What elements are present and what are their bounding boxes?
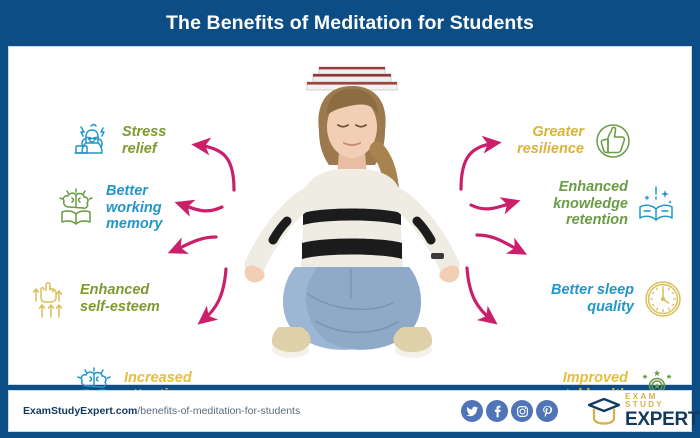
raised-fists-icon — [29, 277, 73, 321]
shoe-right — [393, 327, 432, 358]
wristwatch — [431, 253, 444, 259]
wall-clock-icon — [641, 277, 685, 321]
social-links — [461, 400, 558, 422]
arrow-to-self-esteem — [173, 237, 216, 251]
footer-url-path: /benefits-of-meditation-for-students — [137, 405, 300, 417]
logo-top-text: EXAM STUDY — [625, 393, 699, 409]
pinterest-icon[interactable] — [536, 400, 558, 422]
benefit-stress-relief[interactable]: Stress relief — [71, 119, 166, 163]
graduation-cap-icon — [587, 396, 621, 426]
content-panel: Stress relief Better working memory — [8, 46, 692, 385]
arrow-to-better-sleep — [477, 235, 522, 252]
arrow-to-knowledge-retention — [471, 202, 515, 209]
shoe-left — [272, 327, 311, 358]
header-bar: The Benefits of Meditation for Students — [0, 0, 700, 46]
benefit-greater-resilience[interactable]: Greater resilience — [517, 119, 635, 163]
benefit-better-working-memory[interactable]: Better working memory — [55, 183, 162, 233]
footer-url-domain: ExamStudyExpert.com — [23, 405, 137, 417]
brain-book-icon — [55, 186, 99, 230]
benefit-label: Stress relief — [122, 124, 166, 157]
benefit-label: Greater resilience — [517, 124, 584, 157]
twitter-icon[interactable] — [461, 400, 483, 422]
page-title: The Benefits of Meditation for Students — [166, 12, 534, 35]
brand-logo[interactable]: EXAM STUDY EXPERT — [587, 393, 699, 429]
instagram-icon[interactable] — [511, 400, 533, 422]
benefit-label: Enhanced knowledge retention — [553, 179, 628, 229]
logo-bottom-text: EXPERT — [625, 410, 699, 429]
stressed-person-laptop-icon — [71, 119, 115, 163]
benefit-label: Better working memory — [106, 183, 162, 233]
benefit-enhanced-self-esteem[interactable]: Enhanced self-esteem — [29, 277, 160, 321]
footer-bar: ExamStudyExpert.com/benefits-of-meditati… — [8, 390, 692, 432]
meditating-student-photo — [227, 53, 477, 386]
benefit-better-sleep-quality[interactable]: Better sleep quality — [551, 277, 685, 321]
thumbs-up-circle-icon — [591, 119, 635, 163]
benefit-label: Better sleep quality — [551, 282, 634, 315]
facebook-icon[interactable] — [486, 400, 508, 422]
logo-wordmark: EXAM STUDY EXPERT — [625, 393, 699, 429]
footer-url[interactable]: ExamStudyExpert.com/benefits-of-meditati… — [23, 405, 300, 417]
infographic-root: The Benefits of Meditation for Students — [0, 0, 700, 438]
arrow-to-increased-attention — [202, 269, 226, 321]
arrow-to-working-memory — [180, 204, 222, 211]
sparkling-book-icon — [635, 182, 679, 226]
benefit-label: Enhanced self-esteem — [80, 282, 160, 315]
benefit-enhanced-knowledge-retention[interactable]: Enhanced knowledge retention — [553, 179, 679, 229]
